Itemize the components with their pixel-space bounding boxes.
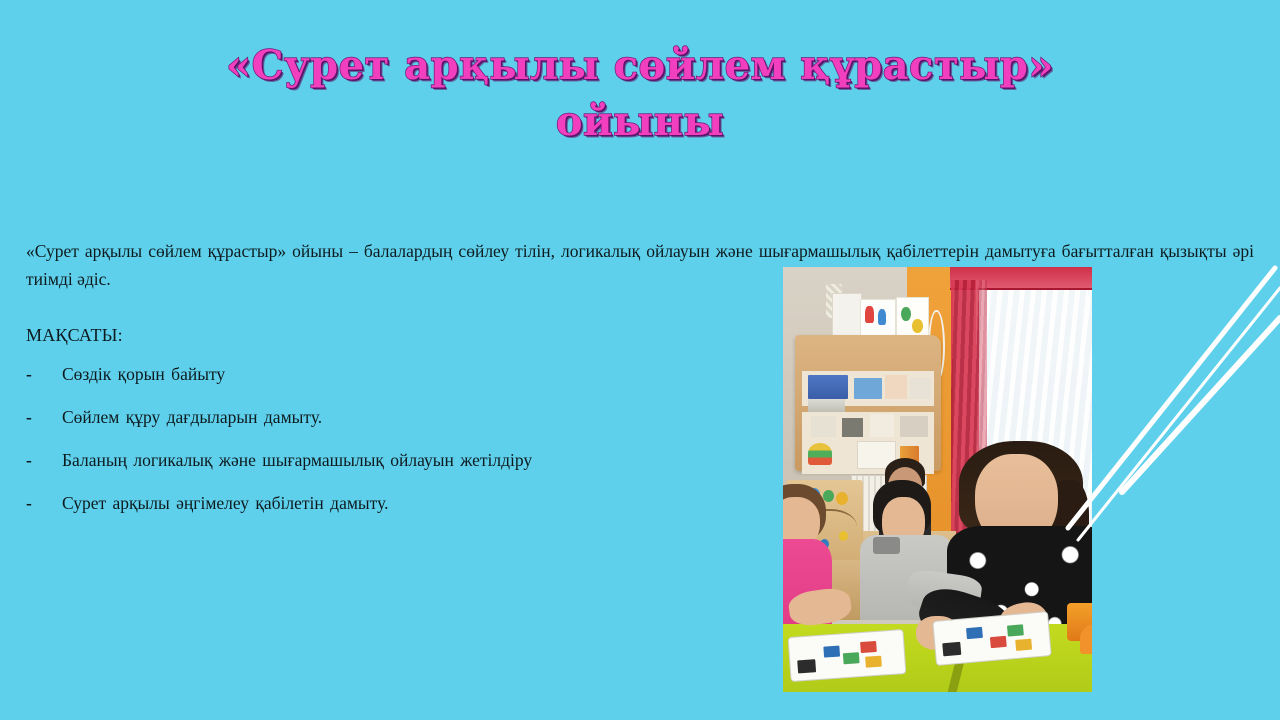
- diagonal-lines-decoration: [1060, 250, 1280, 570]
- photo-boy-shoulder-patch: [873, 537, 901, 554]
- presentation-slide: «Сурет арқылы сөйлем құрастыр» ойыны «Су…: [0, 0, 1280, 720]
- photo-busy-board-bead: [839, 531, 848, 541]
- photo-shelf-box-blue: [854, 378, 882, 399]
- photo-card-picture: [990, 636, 1007, 648]
- photo-wall-poster-bw: [832, 293, 862, 338]
- photo-card-picture: [966, 626, 983, 638]
- photo-card-picture: [866, 655, 883, 667]
- list-item-label: Сурет арқылы әңгімелеу қабілетін дамыту.: [62, 493, 388, 513]
- photo-shelf-box-cream: [885, 375, 907, 398]
- photo-activity-card: [933, 611, 1053, 665]
- photo-card-picture: [843, 651, 860, 663]
- bullet-marker-icon: -: [26, 362, 32, 386]
- photo-stacking-rings-toy: [808, 443, 833, 464]
- photo-busy-board-knob: [836, 492, 848, 505]
- goals-list: - Сөздік қорын байыту - Сөйлем құру дағд…: [26, 362, 726, 534]
- photo-activity-card: [788, 628, 907, 681]
- title-line-2: ойыны: [0, 94, 1280, 150]
- photo-card-picture: [943, 641, 962, 655]
- page-title: «Сурет арқылы сөйлем құрастыр» ойыны: [0, 38, 1280, 150]
- list-item: - Сөйлем құру дағдыларын дамыту.: [26, 405, 726, 429]
- photo-shelf-item-f: [870, 414, 895, 437]
- bullet-marker-icon: -: [26, 405, 32, 429]
- photo-card-picture: [1008, 624, 1025, 636]
- photo-card-picture: [860, 641, 877, 653]
- list-item: - Баланың логикалық және шығармашылық ой…: [26, 448, 726, 472]
- list-item-label: Баланың логикалық және шығармашылық ойла…: [62, 450, 532, 470]
- bullet-marker-icon: -: [26, 491, 32, 515]
- photo-card-picture: [824, 645, 841, 657]
- list-item-label: Сөздік қорын байыту: [62, 364, 225, 384]
- photo-shelf-papers: [808, 399, 845, 412]
- list-item: - Сөздік қорын байыту: [26, 362, 726, 386]
- photo-content: [783, 267, 1092, 692]
- classroom-photo: [783, 267, 1092, 692]
- title-line-1: «Сурет арқылы сөйлем құрастыр»: [0, 38, 1280, 94]
- list-item-label: Сөйлем құру дағдыларын дамыту.: [62, 407, 322, 427]
- list-item: - Сурет арқылы әңгімелеу қабілетін дамыт…: [26, 491, 726, 515]
- photo-card-picture: [797, 659, 816, 673]
- photo-shelf-box-white: [910, 378, 932, 399]
- photo-shelf-books: [808, 375, 848, 398]
- photo-busy-board-knob: [823, 490, 834, 502]
- bullet-marker-icon: -: [26, 448, 32, 472]
- goals-heading: МАҚСАТЫ:: [26, 323, 123, 347]
- photo-shelf-item-d: [811, 416, 836, 437]
- photo-shelf-item-g: [900, 416, 928, 437]
- photo-shelf-item-e: [842, 418, 864, 437]
- photo-card-picture: [1016, 638, 1033, 650]
